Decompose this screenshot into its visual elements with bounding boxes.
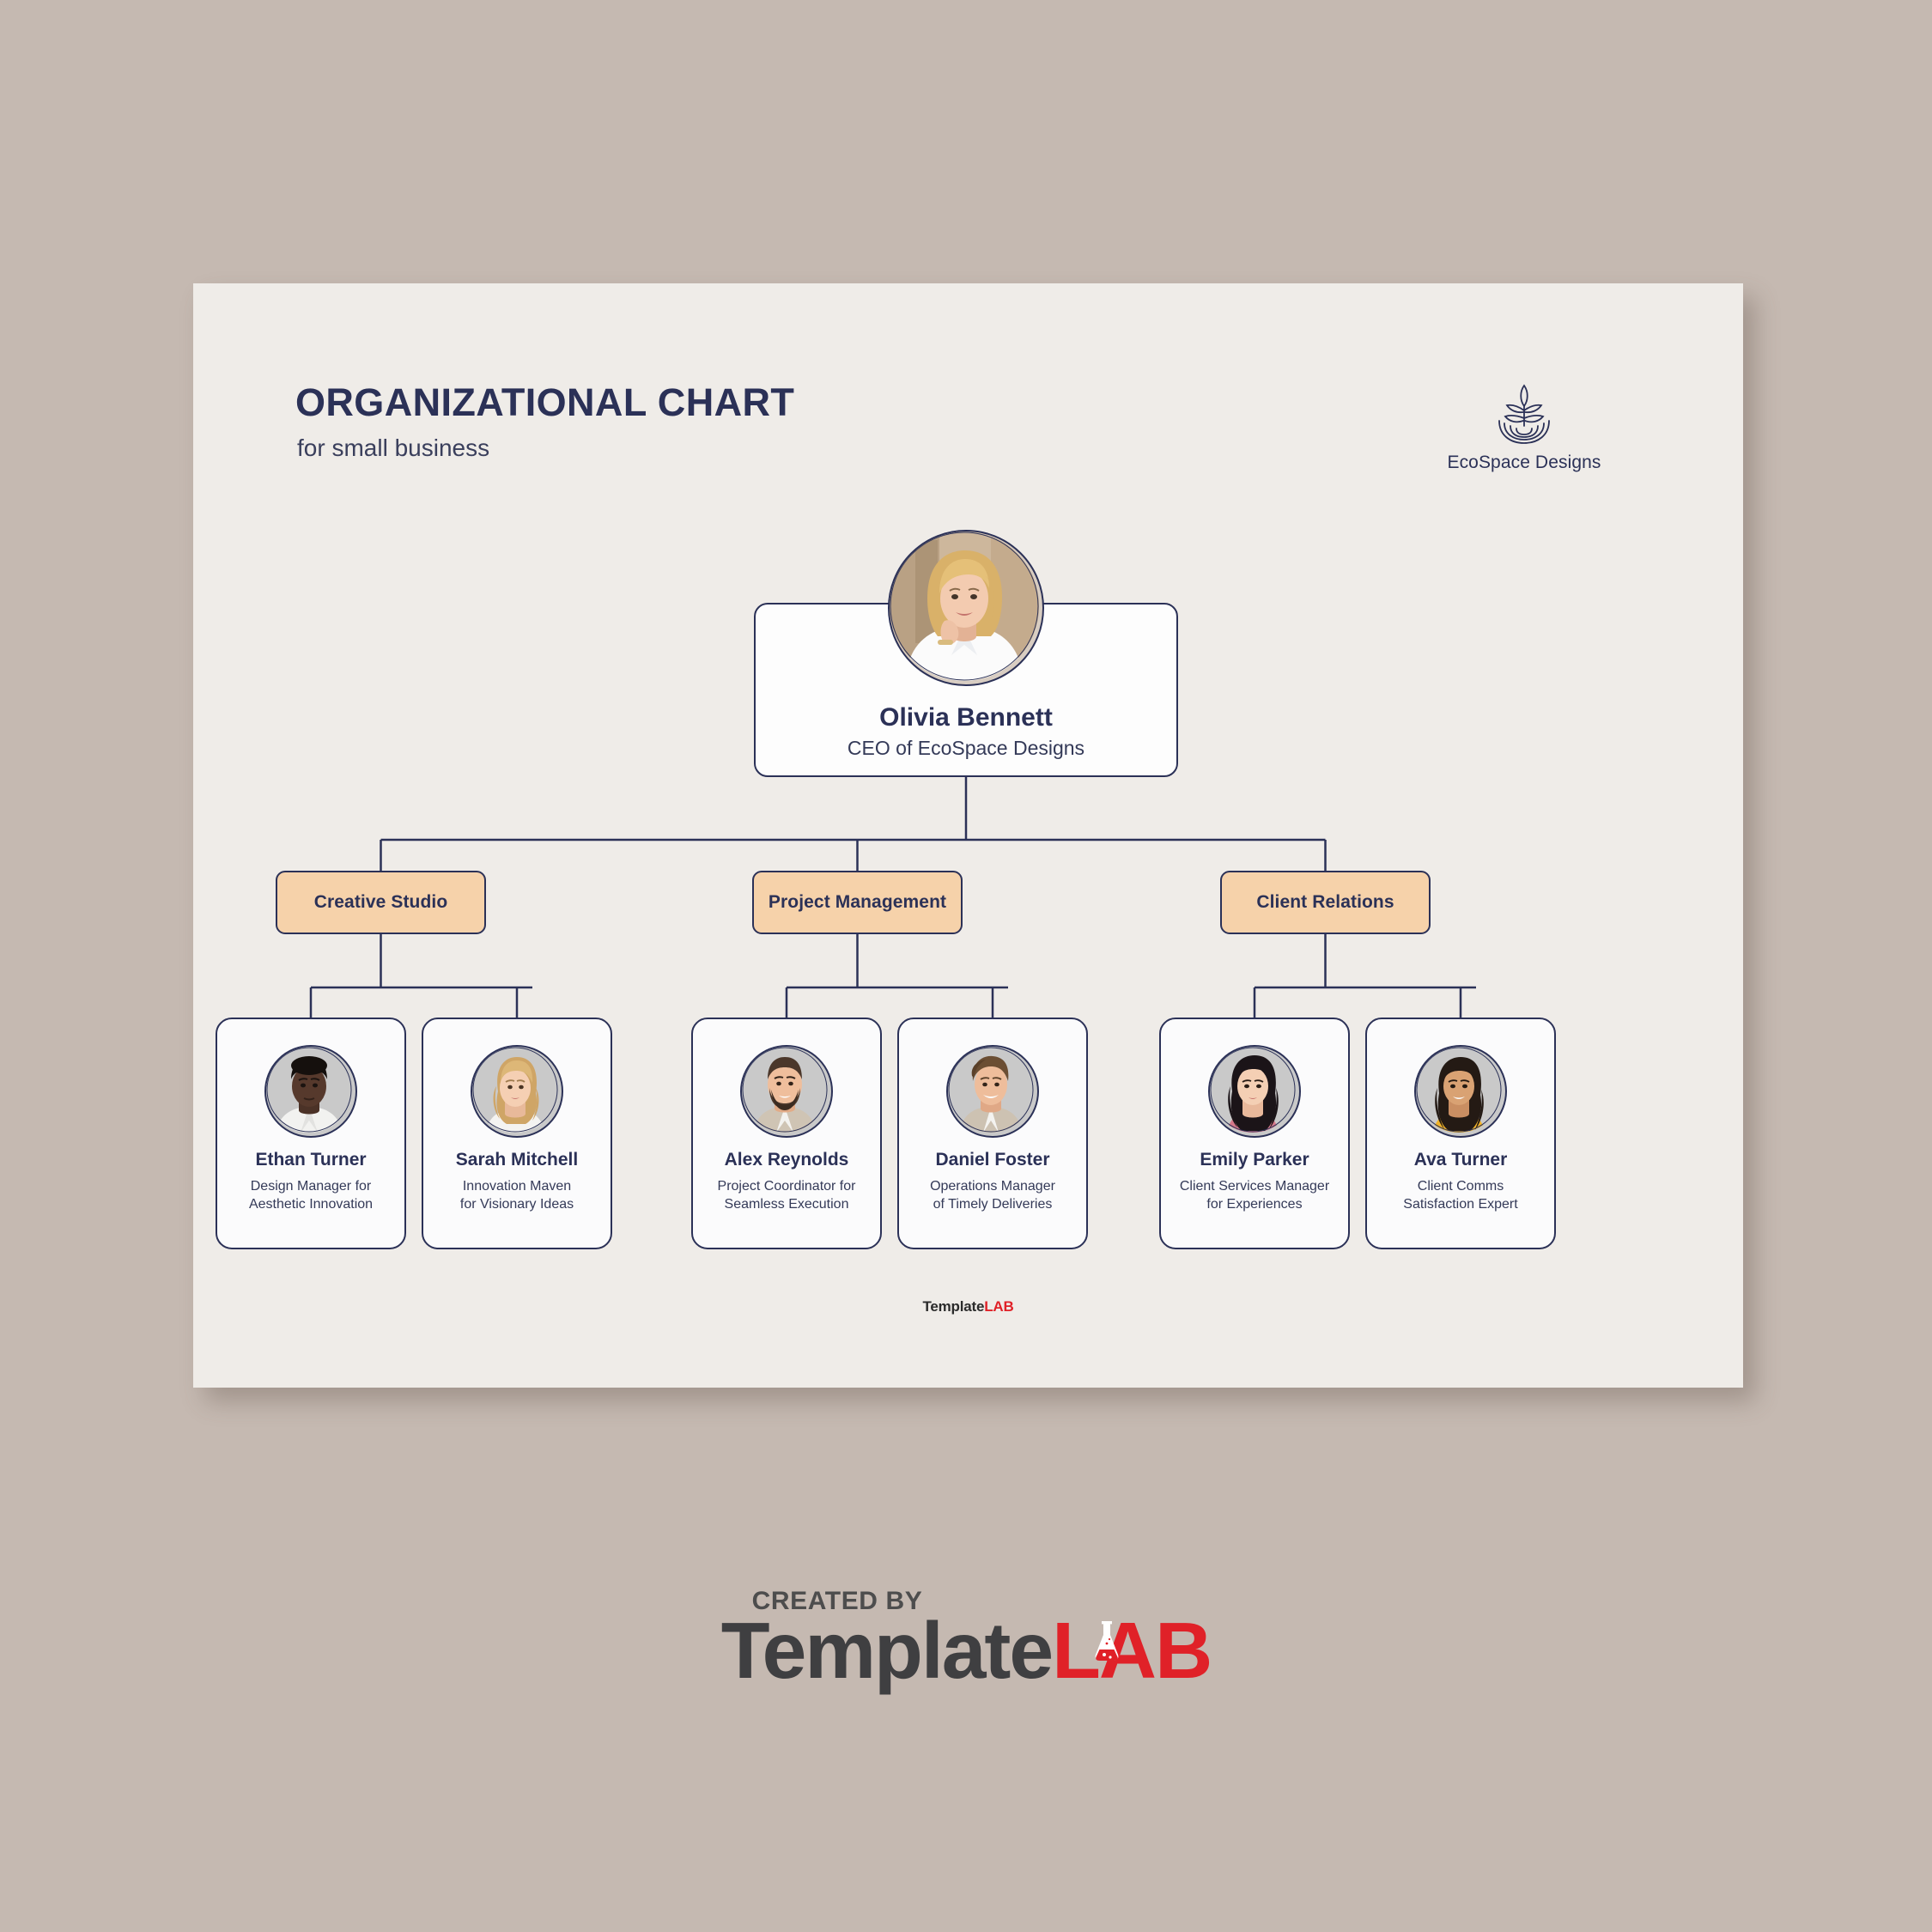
avatar-alex-reynolds — [740, 1045, 833, 1138]
ceo-name: Olivia Bennett — [754, 703, 1178, 732]
employee-role-line1: Operations Manager — [930, 1179, 1055, 1194]
brand-logo: EcoSpace Designs — [1417, 380, 1631, 473]
employee-role-line1: Client Services Manager — [1180, 1179, 1329, 1194]
employee-text-block: Alex Reynolds Project Coordinator for Se… — [698, 1150, 875, 1213]
employee-role-line1: Design Manager for — [251, 1179, 372, 1194]
page-subtitle: for small business — [297, 436, 794, 460]
employee-role-line2: for Visionary Ideas — [460, 1197, 574, 1212]
org-node-employee[interactable]: Sarah Mitchell Innovation Maven for Visi… — [422, 1018, 612, 1249]
employee-role-line1: Innovation Maven — [463, 1179, 571, 1194]
employee-role: Client Services Manager for Experiences — [1166, 1177, 1343, 1213]
page-title: ORGANIZATIONAL CHART — [295, 382, 794, 422]
flask-icon — [1092, 1620, 1121, 1663]
department-label: Creative Studio — [314, 892, 448, 913]
ceo-role: CEO of EcoSpace Designs — [754, 738, 1178, 759]
employee-role: Project Coordinator for Seamless Executi… — [698, 1177, 875, 1213]
org-node-employee[interactable]: Ava Turner Client Comms Satisfaction Exp… — [1365, 1018, 1556, 1249]
employee-role: Client Comms Satisfaction Expert — [1372, 1177, 1549, 1213]
employee-role-line2: Seamless Execution — [725, 1197, 849, 1212]
templatelab-wordmark: TemplateLAB — [0, 1611, 1932, 1691]
avatar-daniel-foster — [946, 1045, 1039, 1138]
chart-header: ORGANIZATIONAL CHART for small business — [295, 382, 794, 460]
inline-watermark-template: Template — [922, 1298, 984, 1315]
employee-role: Design Manager for Aesthetic Innovation — [222, 1177, 399, 1213]
org-node-employee[interactable]: Daniel Foster Operations Manager of Time… — [897, 1018, 1088, 1249]
ceo-text-block: Olivia Bennett CEO of EcoSpace Designs — [754, 703, 1178, 759]
org-node-employee[interactable]: Ethan Turner Design Manager for Aestheti… — [216, 1018, 406, 1249]
created-by-logo: CREATED BY TemplateLAB — [0, 1587, 1932, 1691]
avatar-ava-turner — [1414, 1045, 1507, 1138]
employee-role-line2: Aesthetic Innovation — [249, 1197, 373, 1212]
employee-role-line2: Satisfaction Expert — [1403, 1197, 1517, 1212]
employee-name: Emily Parker — [1166, 1150, 1343, 1170]
employee-role-line2: of Timely Deliveries — [933, 1197, 1053, 1212]
employee-text-block: Ava Turner Client Comms Satisfaction Exp… — [1372, 1150, 1549, 1213]
inline-watermark-lab: LAB — [984, 1298, 1013, 1315]
employee-name: Sarah Mitchell — [428, 1150, 605, 1170]
chart-page-sheet: ORGANIZATIONAL CHART for small business … — [193, 283, 1743, 1388]
employee-role: Innovation Maven for Visionary Ideas — [428, 1177, 605, 1213]
avatar-emily-parker — [1208, 1045, 1301, 1138]
employee-name: Ava Turner — [1372, 1150, 1549, 1170]
employee-text-block: Sarah Mitchell Innovation Maven for Visi… — [428, 1150, 605, 1213]
inline-templatelab-watermark: TemplateLAB — [193, 1298, 1743, 1315]
department-label: Client Relations — [1256, 892, 1394, 913]
employee-name: Daniel Foster — [904, 1150, 1081, 1170]
avatar-sarah-mitchell — [471, 1045, 563, 1138]
department-box-client-relations[interactable]: Client Relations — [1220, 871, 1431, 934]
employee-role-line1: Client Comms — [1418, 1179, 1504, 1194]
employee-role: Operations Manager of Timely Deliveries — [904, 1177, 1081, 1213]
employee-text-block: Ethan Turner Design Manager for Aestheti… — [222, 1150, 399, 1213]
org-node-employee[interactable]: Emily Parker Client Services Manager for… — [1159, 1018, 1350, 1249]
department-label: Project Management — [769, 892, 946, 913]
employee-name: Alex Reynolds — [698, 1150, 875, 1170]
avatar-olivia-bennett — [888, 530, 1044, 686]
org-node-ceo[interactable]: Olivia Bennett CEO of EcoSpace Designs — [754, 603, 1178, 777]
org-node-employee[interactable]: Alex Reynolds Project Coordinator for Se… — [691, 1018, 882, 1249]
employee-text-block: Emily Parker Client Services Manager for… — [1166, 1150, 1343, 1213]
wordmark-lab: LAB — [1052, 1606, 1211, 1695]
department-box-project-management[interactable]: Project Management — [752, 871, 963, 934]
brand-name: EcoSpace Designs — [1417, 453, 1631, 473]
employee-role-line2: for Experiences — [1206, 1197, 1302, 1212]
department-box-creative-studio[interactable]: Creative Studio — [276, 871, 486, 934]
wordmark-template: Template — [721, 1606, 1052, 1695]
employee-role-line1: Project Coordinator for — [718, 1179, 856, 1194]
employee-name: Ethan Turner — [222, 1150, 399, 1170]
tree-plant-icon — [1489, 380, 1559, 447]
employee-text-block: Daniel Foster Operations Manager of Time… — [904, 1150, 1081, 1213]
avatar-ethan-turner — [264, 1045, 357, 1138]
